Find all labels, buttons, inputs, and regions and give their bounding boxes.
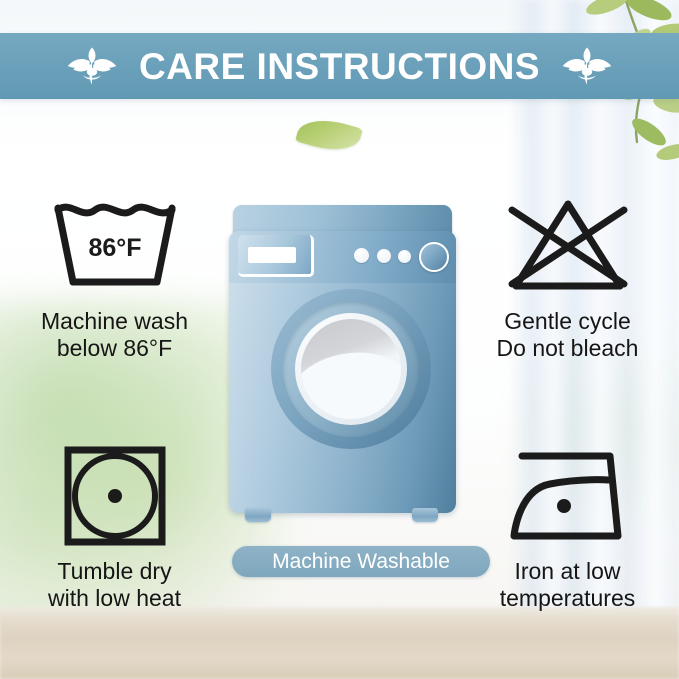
header-banner: CARE INSTRUCTIONS: [0, 33, 679, 99]
machine-control-dial: [419, 242, 449, 272]
care-item-tumble-dry: Tumble dry with low heat: [7, 440, 222, 611]
machine-foot-right: [412, 508, 438, 522]
washing-machine-illustration: [229, 205, 456, 535]
tumble-dry-low-icon: [7, 440, 222, 552]
machine-door-ring: [283, 301, 419, 437]
care-item-machine-wash: 86°F Machine wash below 86°F: [7, 190, 222, 361]
fleur-de-lis-icon-right: [558, 44, 616, 88]
detergent-drawer-slot: [248, 247, 296, 263]
wash-temperature-value: 86°F: [88, 234, 141, 262]
iron-low-temperature-icon: [460, 440, 675, 552]
machine-button-1: [354, 248, 369, 263]
wash-tub-icon: 86°F: [7, 190, 222, 302]
care-item-iron: Iron at low temperatures: [460, 440, 675, 611]
status-badge: Machine Washable: [232, 546, 490, 577]
page-title: CARE INSTRUCTIONS: [139, 48, 540, 85]
care-item-label-iron: Iron at low temperatures: [460, 558, 675, 611]
machine-door: [271, 289, 431, 449]
fleur-de-lis-icon-left: [63, 44, 121, 88]
care-item-do-not-bleach: Gentle cycle Do not bleach: [460, 190, 675, 361]
status-badge-label: Machine Washable: [272, 551, 450, 572]
machine-foot-left: [245, 508, 271, 522]
machine-door-highlight: [301, 339, 401, 419]
care-instructions-graphic: CARE INSTRUCTIONS 86°F Machine wash belo: [0, 0, 679, 679]
wooden-table-surface: [0, 607, 679, 679]
care-item-label-machine-wash: Machine wash below 86°F: [7, 308, 222, 361]
detergent-drawer: [238, 235, 314, 277]
care-item-label-do-not-bleach: Gentle cycle Do not bleach: [460, 308, 675, 361]
care-item-label-tumble-dry: Tumble dry with low heat: [7, 558, 222, 611]
machine-button-3: [398, 250, 411, 263]
do-not-bleach-triangle-icon: [460, 190, 675, 302]
machine-button-2: [377, 249, 391, 263]
machine-door-glass: [301, 319, 401, 419]
machine-door-rim: [295, 313, 407, 425]
